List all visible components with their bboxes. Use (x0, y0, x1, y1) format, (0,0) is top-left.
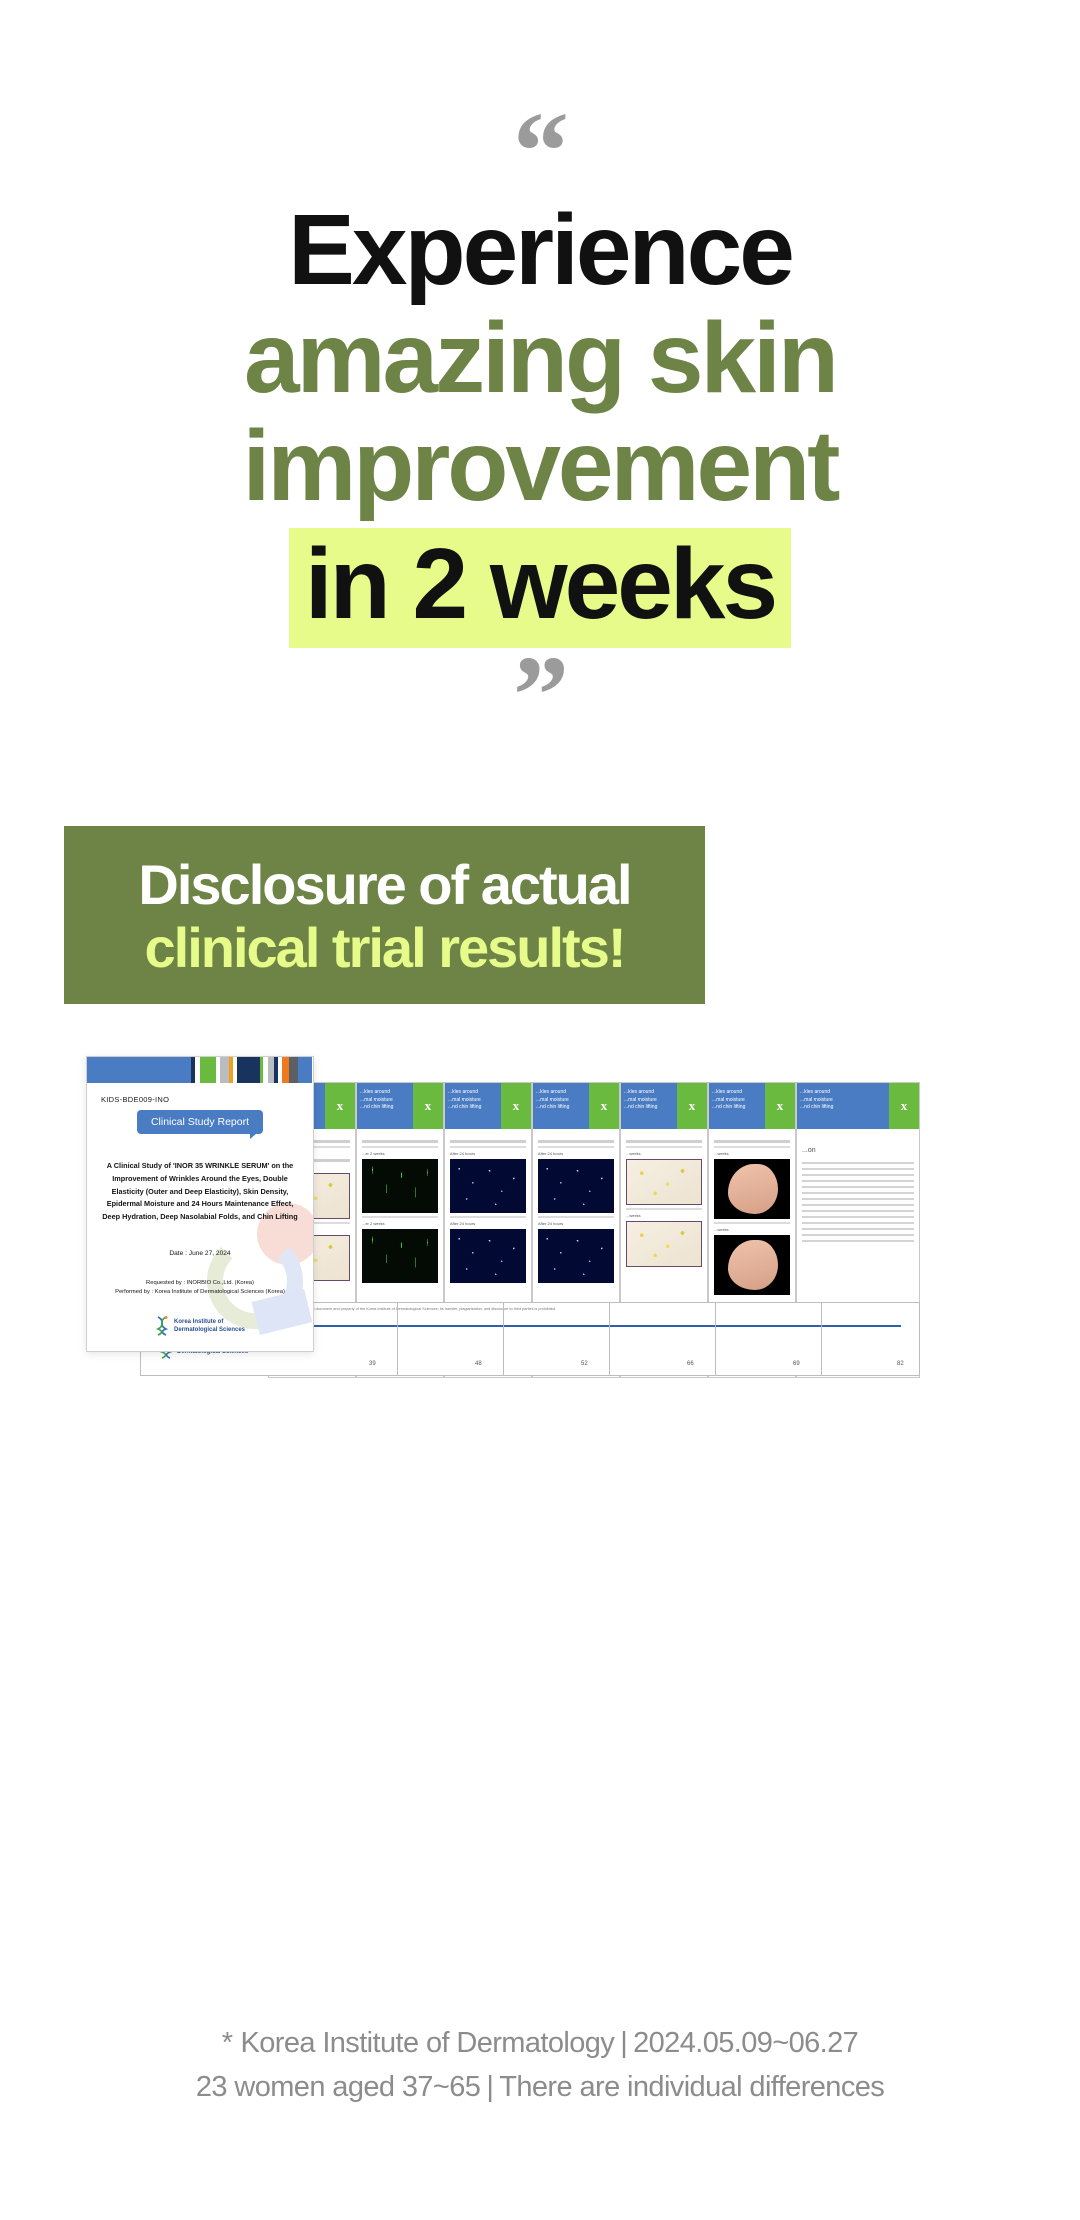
cover-date: Date : June 27, 2024 (101, 1250, 299, 1257)
headline-highlight: in 2 weeks (289, 528, 791, 648)
banner-line-2: clinical trial results! (145, 917, 625, 980)
page-running-header: ...kles around ...mal moisture ...nd chi… (445, 1083, 501, 1129)
page-running-header: ...kles around ...mal moisture ...nd chi… (533, 1083, 589, 1129)
report-cover: KIDS-BDE009-INO Clinical Study Report A … (86, 1056, 314, 1352)
cover-stripe-band (87, 1057, 313, 1083)
skin-image (626, 1159, 702, 1205)
headline: Experience amazing skin improvement in 2… (0, 196, 1080, 648)
page-header: ...kles around ...mal moisture ...nd chi… (797, 1083, 919, 1129)
headline-line-4-wrap: in 2 weeks (0, 520, 1080, 648)
image-label-a: After 24 hours (538, 1151, 614, 1156)
image-label-b: ...weeks (714, 1227, 790, 1232)
footer-line-2: 23 women aged 37~65|There are individual… (0, 2066, 1080, 2110)
base-page-number: 39 (369, 1361, 376, 1367)
page-running-header: ...kles around ...mal moisture ...nd chi… (709, 1083, 765, 1129)
promo-page: “ Experience amazing skin improvement in… (0, 0, 1080, 2220)
asterisk: * (222, 2027, 241, 2059)
moisture-fluorescence-image (450, 1159, 526, 1213)
page-body: ...er 2 weeks ...er 2 weeks (357, 1129, 443, 1294)
page-header: ...kles around ...mal moisture ...nd chi… (621, 1083, 707, 1129)
collagen-fluorescence-image (362, 1159, 438, 1213)
skin-image (626, 1221, 702, 1267)
clinical-report-mockup: ...kles around ...mal moisture ...nd chi… (0, 1040, 1080, 1400)
cover-body: KIDS-BDE009-INO Clinical Study Report A … (87, 1083, 313, 1352)
kids-logo-mark: x (501, 1083, 531, 1129)
page-body: ...on (797, 1129, 919, 1254)
base-page-number: 52 (581, 1361, 588, 1367)
image-label-a: ...weeks (626, 1151, 702, 1156)
image-label-b: After 24 hours (450, 1221, 526, 1226)
image-label-a: ...weeks (714, 1151, 790, 1156)
cover-title: A Clinical Study of 'INOR 35 WRINKLE SER… (101, 1160, 299, 1224)
profile-photo (714, 1235, 790, 1295)
performed-by: Performed by : Korea Institute of Dermat… (101, 1288, 299, 1297)
kids-logo-mark: x (677, 1083, 707, 1129)
opening-quote-icon: “ (0, 96, 1080, 208)
headline-line-3: improvement (0, 412, 1080, 520)
footer-sep: | (614, 2027, 633, 2059)
document-code: KIDS-BDE009-INO (101, 1095, 299, 1104)
profile-photo (714, 1159, 790, 1219)
helix-icon (155, 1315, 169, 1336)
image-label-a: After 24 hours (450, 1151, 526, 1156)
clinical-study-report-badge: Clinical Study Report (137, 1110, 263, 1134)
page-running-header: ...kles around ...mal moisture ...nd chi… (797, 1083, 889, 1129)
conclusion-heading: ...on (802, 1147, 914, 1154)
base-page-number: 69 (793, 1361, 800, 1367)
base-page-number: 82 (897, 1361, 904, 1367)
page-body: ...weeks ...weeks (709, 1129, 795, 1306)
base-page-number: 48 (475, 1361, 482, 1367)
page-body: After 24 hours After 24 hours (445, 1129, 531, 1294)
footer-disclaimer: *Korea Institute of Dermatology|2024.05.… (0, 2022, 1080, 2109)
page-running-header: ...kles around ...mal moisture ...nd chi… (621, 1083, 677, 1129)
cover-requester: Requested by : INORBIO Co.,Ltd. (Korea) … (101, 1279, 299, 1298)
base-page-number: 66 (687, 1361, 694, 1367)
requested-by: Requested by : INORBIO Co.,Ltd. (Korea) (101, 1279, 299, 1288)
cover-logo-text: Korea Institute of Dermatological Scienc… (174, 1318, 245, 1334)
kids-logo-mark: x (413, 1083, 443, 1129)
page-header: ...kles around ...mal moisture ...nd chi… (533, 1083, 619, 1129)
kids-logo-mark: x (325, 1083, 355, 1129)
divider-rule (241, 1325, 901, 1327)
footer-sep-2: | (480, 2071, 499, 2103)
headline-line-1: Experience (0, 196, 1080, 304)
footer-institute: Korea Institute of Dermatology (240, 2027, 614, 2059)
kids-logo-mark: x (589, 1083, 619, 1129)
closing-quote-icon: ” (0, 640, 1080, 752)
footer-period: 2024.05.09~06.27 (633, 2027, 858, 2059)
footer-note: There are individual differences (499, 2071, 884, 2103)
kids-logo-mark: x (765, 1083, 795, 1129)
image-label-a: ...er 2 weeks (362, 1151, 438, 1156)
disclosure-banner: Disclosure of actual clinical trial resu… (64, 826, 705, 1004)
page-header: ...kles around ...mal moisture ...nd chi… (357, 1083, 443, 1129)
page-header: ...kles around ...mal moisture ...nd chi… (709, 1083, 795, 1129)
banner-line-1: Disclosure of actual (138, 854, 630, 917)
image-label-b: After 24 hours (538, 1221, 614, 1226)
collagen-fluorescence-image (362, 1229, 438, 1283)
page-running-header: ...kles around ...mal moisture ...nd chi… (357, 1083, 413, 1129)
kids-logo-mark: x (889, 1083, 919, 1129)
cover-logo: Korea Institute of Dermatological Scienc… (101, 1315, 299, 1336)
moisture-fluorescence-image (450, 1229, 526, 1283)
page-body: ...weeks ...weeks (621, 1129, 707, 1278)
image-label-b: ...weeks (626, 1213, 702, 1218)
footer-subjects: 23 women aged 37~65 (196, 2071, 480, 2103)
page-body: After 24 hours After 24 hours (533, 1129, 619, 1294)
moisture-fluorescence-image (538, 1159, 614, 1213)
page-header: ...kles around ...mal moisture ...nd chi… (445, 1083, 531, 1129)
headline-line-2: amazing skin (0, 304, 1080, 412)
moisture-fluorescence-image (538, 1229, 614, 1283)
image-label-b: ...er 2 weeks (362, 1221, 438, 1226)
footer-line-1: *Korea Institute of Dermatology|2024.05.… (0, 2022, 1080, 2066)
